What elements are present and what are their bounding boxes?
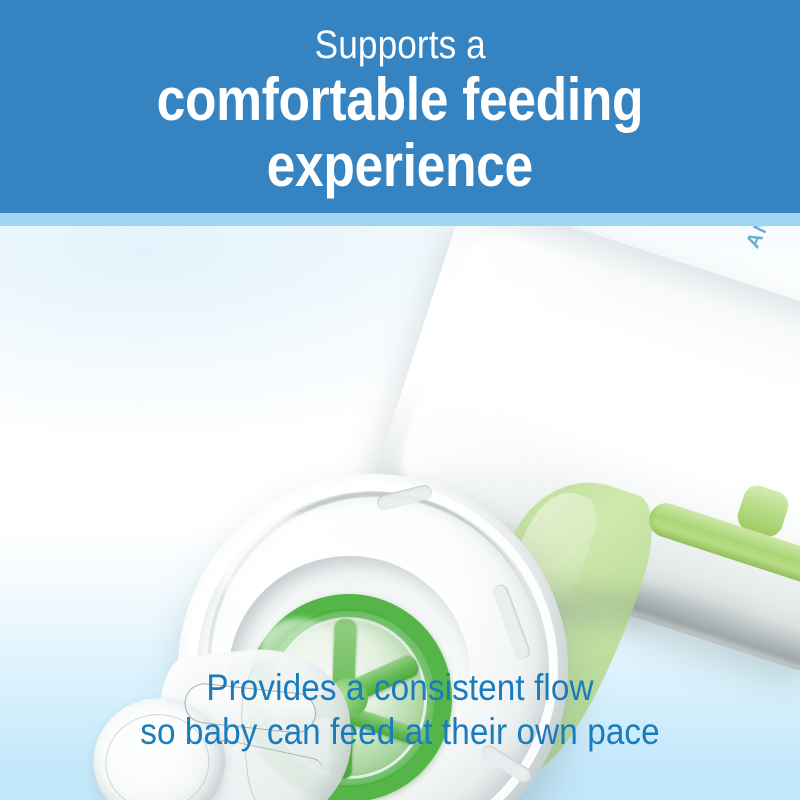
bottle-brand-text: ANTI [742, 226, 787, 252]
baby-bottle-illustration: ANTI [0, 226, 800, 666]
headline-line-3: experience [267, 136, 533, 196]
footer-caption: Provides a consistent flow so baby can f… [0, 666, 800, 754]
caption-line-2: so baby can feed at their own pace [40, 710, 760, 754]
headline-line-1: Supports a [314, 22, 485, 68]
header-banner: Supports a comfortable feeding experienc… [0, 0, 800, 213]
headline-line-2: comfortable feeding [157, 70, 644, 130]
caption-line-1: Provides a consistent flow [40, 666, 760, 710]
banner-underline-rule [0, 213, 800, 226]
marketing-infographic: Supports a comfortable feeding experienc… [0, 0, 800, 800]
